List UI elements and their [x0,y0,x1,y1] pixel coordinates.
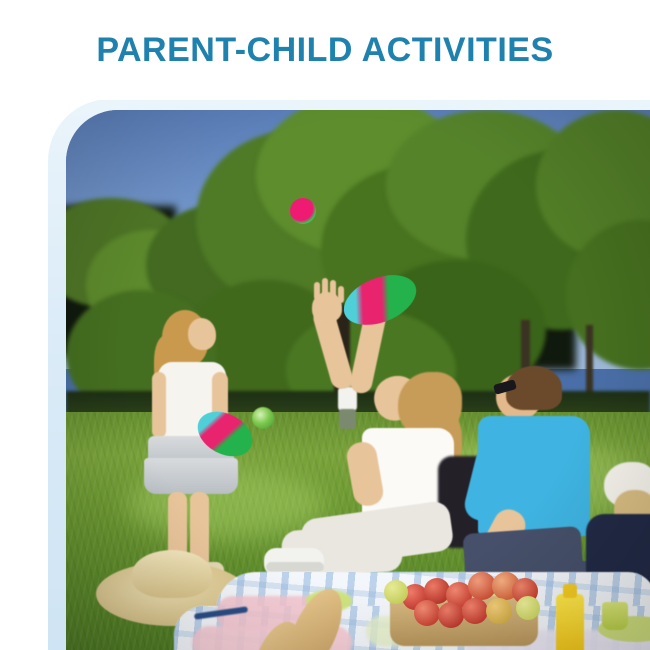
product-image-card: PARENT-CHILD ACTIVITIES [0,0,650,650]
lifestyle-photo [66,110,650,650]
header-banner: PARENT-CHILD ACTIVITIES [0,0,650,100]
green-ball-grass [252,407,274,429]
flying-ball [290,198,316,224]
page-title: PARENT-CHILD ACTIVITIES [96,31,553,70]
photo-scene [66,110,650,650]
product-photo-frame [48,99,650,650]
